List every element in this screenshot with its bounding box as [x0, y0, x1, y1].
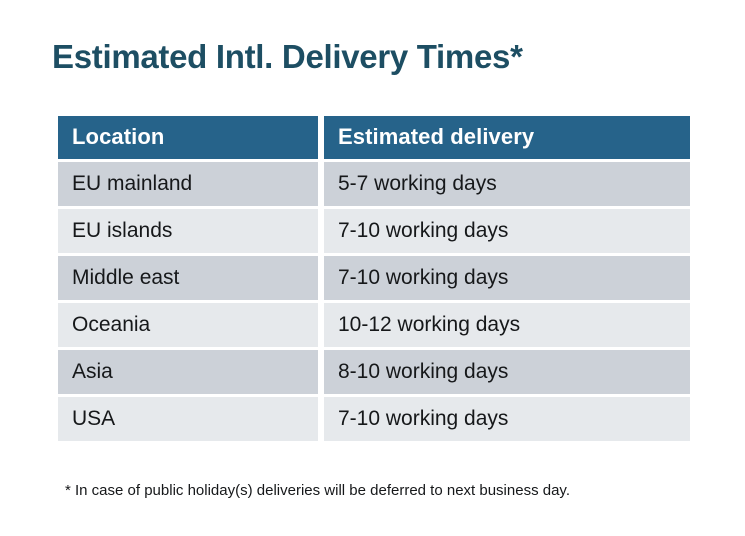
cell-delivery: 7-10 working days: [324, 397, 690, 441]
cell-location: EU mainland: [58, 162, 318, 206]
cell-delivery: 8-10 working days: [324, 350, 690, 394]
table-row: Oceania 10-12 working days: [58, 303, 690, 347]
table-row: Asia 8-10 working days: [58, 350, 690, 394]
table-header-row: Location Estimated delivery: [58, 116, 690, 159]
cell-location: EU islands: [58, 209, 318, 253]
cell-delivery: 10-12 working days: [324, 303, 690, 347]
cell-delivery: 5-7 working days: [324, 162, 690, 206]
cell-location: Asia: [58, 350, 318, 394]
cell-delivery: 7-10 working days: [324, 209, 690, 253]
estimated-delivery-times-table: Location Estimated delivery EU mainland …: [52, 113, 696, 444]
cell-delivery: 7-10 working days: [324, 256, 690, 300]
page-title: Estimated Intl. Delivery Times*: [52, 37, 523, 77]
table-row: EU mainland 5-7 working days: [58, 162, 690, 206]
table-body: EU mainland 5-7 working days EU islands …: [58, 162, 690, 441]
table-row: Middle east 7-10 working days: [58, 256, 690, 300]
column-header-location: Location: [58, 116, 318, 159]
cell-location: USA: [58, 397, 318, 441]
table-header: Location Estimated delivery: [58, 116, 690, 159]
column-header-estimated-delivery: Estimated delivery: [324, 116, 690, 159]
table-footnote: * In case of public holiday(s) deliverie…: [65, 481, 570, 501]
delivery-times-page: Estimated Intl. Delivery Times* Location…: [0, 0, 745, 536]
table-row: EU islands 7-10 working days: [58, 209, 690, 253]
table-row: USA 7-10 working days: [58, 397, 690, 441]
cell-location: Oceania: [58, 303, 318, 347]
cell-location: Middle east: [58, 256, 318, 300]
